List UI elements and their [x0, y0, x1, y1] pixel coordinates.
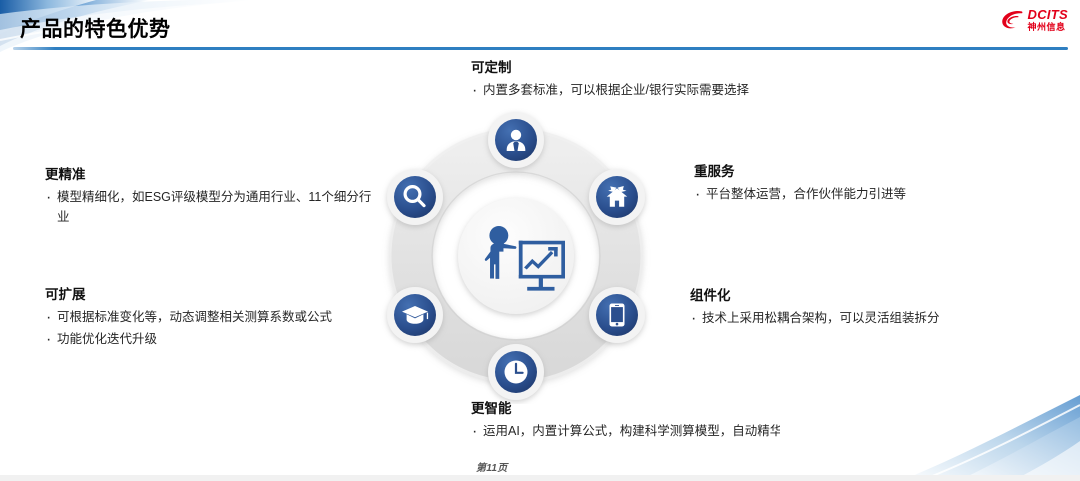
- feature-bullets-extensible: 可根据标准变化等，动态调整相关测算系数或公式 功能优化迭代升级: [45, 308, 375, 349]
- feature-heading-service: 重服务: [694, 164, 1024, 180]
- header-divider: [13, 47, 1068, 50]
- list-item: 平台整体运营，合作伙伴能力引进等: [694, 185, 1024, 204]
- feature-heading-customizable: 可定制: [471, 60, 901, 76]
- list-item: 技术上采用松耦合架构，可以灵活组装拆分: [690, 309, 1020, 328]
- feature-block-customizable: 可定制 内置多套标准，可以根据企业/银行实际需要选择: [471, 60, 901, 103]
- badge-mobile-phone: [589, 287, 645, 343]
- feature-bullets-modular: 技术上采用松耦合架构，可以灵活组装拆分: [690, 309, 1020, 328]
- feature-block-accurate: 更精准 模型精细化，如ESG评级模型分为通用行业、11个细分行业: [45, 167, 375, 229]
- list-item: 功能优化迭代升级: [45, 330, 375, 349]
- feature-bullets-intelligent: 运用AI，内置计算公式，构建科学测算模型，自动精华计算: [471, 422, 931, 441]
- list-item: 模型精细化，如ESG评级模型分为通用行业、11个细分行业: [45, 188, 375, 227]
- dcits-swirl-icon: [1000, 8, 1024, 32]
- feature-block-modular: 组件化 技术上采用松耦合架构，可以灵活组装拆分: [690, 288, 1020, 331]
- logo-chinese-text: 神州信息: [1028, 23, 1069, 32]
- list-item: 内置多套标准，可以根据企业/银行实际需要选择: [471, 81, 901, 100]
- feature-block-intelligent: 更智能 运用AI，内置计算公式，构建科学测算模型，自动精华计算: [471, 401, 931, 444]
- badge-clock: [488, 344, 544, 400]
- feature-block-extensible: 可扩展 可根据标准变化等，动态调整相关测算系数或公式 功能优化迭代升级: [45, 287, 375, 351]
- feature-heading-accurate: 更精准: [45, 167, 375, 183]
- logo-wordmark: DCITS 神州信息: [1028, 8, 1069, 32]
- badge-graduation-cap: [387, 287, 443, 343]
- feature-bullets-service: 平台整体运营，合作伙伴能力引进等: [694, 185, 1024, 204]
- page-title: 产品的特色优势: [20, 13, 171, 43]
- page-number: 第11页: [476, 459, 508, 474]
- slide-header: 产品的特色优势 DCITS 神州信息: [0, 0, 1080, 52]
- badge-user-business: [488, 112, 544, 168]
- feature-bullets-customizable: 内置多套标准，可以根据企业/银行实际需要选择: [471, 81, 901, 100]
- hub-and-spoke-diagram: [368, 108, 664, 404]
- feature-block-service: 重服务 平台整体运营，合作伙伴能力引进等: [694, 164, 1024, 207]
- logo-english-text: DCITS: [1028, 8, 1069, 21]
- slide-root: 产品的特色优势 DCITS 神州信息: [0, 0, 1080, 481]
- list-item: 运用AI，内置计算公式，构建科学测算模型，自动精华计算: [471, 422, 931, 441]
- feature-heading-modular: 组件化: [690, 288, 1020, 304]
- brand-logo: DCITS 神州信息: [1000, 8, 1069, 32]
- badge-home: [589, 169, 645, 225]
- feature-bullets-accurate: 模型精细化，如ESG评级模型分为通用行业、11个细分行业: [45, 188, 375, 227]
- feature-heading-extensible: 可扩展: [45, 287, 375, 303]
- list-item: 可根据标准变化等，动态调整相关测算系数或公式: [45, 308, 375, 327]
- badge-magnifier: [387, 169, 443, 225]
- feature-heading-intelligent: 更智能: [471, 401, 931, 417]
- footer-base-bar: [0, 475, 1080, 481]
